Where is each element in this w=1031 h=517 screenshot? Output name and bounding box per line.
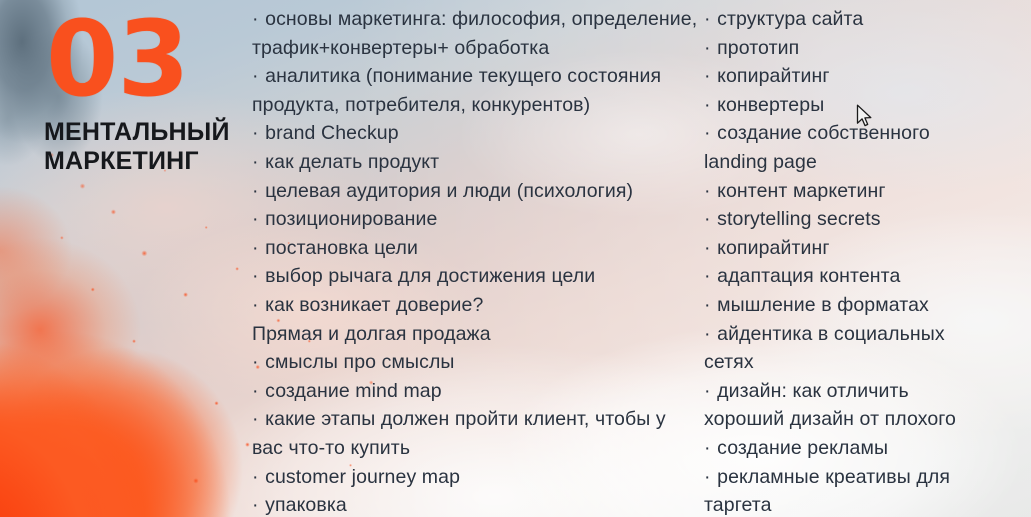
topic-line: · айдентика в социальных (704, 320, 1031, 349)
topic-line-text: как делать продукт (265, 151, 439, 173)
bullet-marker: · (704, 237, 717, 259)
topic-line: · как возникает доверие? (252, 291, 704, 320)
slide-canvas: 03 МЕНТАЛЬНЫЙ МАРКЕТИНГ · основы маркети… (0, 0, 1031, 517)
bullet-marker: · (252, 466, 265, 488)
topic-line-text: создание mind map (265, 380, 442, 402)
topic-line: Прямая и долгая продажа (252, 320, 704, 349)
topic-line: · постановка цели (252, 234, 704, 263)
topic-line: · конвертеры (704, 91, 1031, 120)
bullet-marker: · (252, 494, 265, 516)
topic-line: сетях (704, 348, 1031, 377)
topic-line: · адаптация контента (704, 262, 1031, 291)
topic-line: · рекламные креативы для (704, 463, 1031, 492)
topic-line-text: Прямая и долгая продажа (252, 323, 491, 345)
bullet-marker: · (704, 437, 717, 459)
bullet-marker: · (252, 122, 265, 144)
topic-line-text: упаковка (265, 494, 347, 516)
bullet-marker: · (704, 8, 717, 30)
topic-line: · brand Checkup (252, 119, 704, 148)
topic-line-text: дизайн: как отличить (717, 380, 909, 402)
bullet-marker: · (704, 466, 717, 488)
topic-line-text: смыслы про смыслы (265, 351, 454, 373)
topic-line-text: основы маркетинга: философия, определени… (265, 8, 697, 30)
bullet-marker: · (252, 65, 265, 87)
bullet-marker: · (704, 208, 717, 230)
bullet-marker: · (704, 122, 717, 144)
bullet-marker: · (704, 94, 717, 116)
bullet-marker: · (252, 380, 265, 402)
topic-column-right: · структура сайта· прототип· копирайтинг… (704, 0, 1031, 517)
bullet-marker: · (704, 65, 717, 87)
topic-line-text: таргета (704, 494, 772, 516)
topic-line: · позиционирование (252, 205, 704, 234)
topic-line: · customer journey map (252, 463, 704, 492)
bullet-marker: · (704, 37, 717, 59)
topic-line-text: создание рекламы (717, 437, 888, 459)
topic-line-text: какие этапы должен пройти клиент, чтобы … (265, 408, 666, 430)
topic-line-text: хороший дизайн от плохого (704, 408, 956, 430)
topic-line-text: постановка цели (265, 237, 418, 259)
bullet-marker: · (252, 265, 265, 287)
topic-line-text: позиционирование (265, 208, 437, 230)
topic-line: · создание собственного (704, 119, 1031, 148)
topic-line-text: вас что-то купить (252, 437, 410, 459)
topic-line-text: выбор рычага для достижения цели (265, 265, 595, 287)
topic-line-text: айдентика в социальных (717, 323, 945, 345)
topic-line-text: landing page (704, 151, 817, 173)
topic-line-text: копирайтинг (717, 65, 829, 87)
bullet-marker: · (704, 323, 717, 345)
topic-line-text: сетях (704, 351, 754, 373)
bullet-marker: · (252, 208, 265, 230)
topic-line-text: прототип (717, 37, 799, 59)
bullet-marker: · (252, 237, 265, 259)
topic-column-left: · основы маркетинга: философия, определе… (252, 0, 704, 517)
bullet-marker: · (252, 151, 265, 173)
topic-line: трафик+конвертеры+ обработка (252, 34, 704, 63)
bullet-marker: · (704, 180, 717, 202)
topic-line: · дизайн: как отличить (704, 377, 1031, 406)
topic-line-text: адаптация контента (717, 265, 900, 287)
bullet-marker: · (252, 294, 265, 316)
topic-line-text: создание собственного (717, 122, 930, 144)
topic-line-text: целевая аудитория и люди (психология) (265, 180, 633, 202)
topic-line: · основы маркетинга: философия, определе… (252, 5, 704, 34)
topic-line: · какие этапы должен пройти клиент, чтоб… (252, 405, 704, 434)
title-block: 03 МЕНТАЛЬНЫЙ МАРКЕТИНГ (44, 12, 264, 177)
topic-line-text: рекламные креативы для (717, 466, 950, 488)
slide-number: 03 (46, 12, 264, 108)
topic-line: landing page (704, 148, 1031, 177)
topic-line: · создание mind map (252, 377, 704, 406)
topic-line: · структура сайта (704, 5, 1031, 34)
topic-line: · копирайтинг (704, 62, 1031, 91)
topic-line: · прототип (704, 34, 1031, 63)
topic-line-text: аналитика (понимание текущего состояния (265, 65, 661, 87)
topic-line: продукта, потребителя, конкурентов) (252, 91, 704, 120)
slide-content: 03 МЕНТАЛЬНЫЙ МАРКЕТИНГ · основы маркети… (0, 0, 1031, 517)
topic-line: · целевая аудитория и люди (психология) (252, 177, 704, 206)
bullet-marker: · (704, 380, 717, 402)
topic-line-text: brand Checkup (265, 122, 399, 144)
topic-line: · мышление в форматах (704, 291, 1031, 320)
page-title: МЕНТАЛЬНЫЙ МАРКЕТИНГ (44, 118, 264, 177)
topic-line: · копирайтинг (704, 234, 1031, 263)
topic-line: таргета (704, 491, 1031, 517)
topic-line: · выбор рычага для достижения цели (252, 262, 704, 291)
topic-line: · смыслы про смыслы (252, 348, 704, 377)
topic-line: · storytelling secrets (704, 205, 1031, 234)
topic-line-text: трафик+конвертеры+ обработка (252, 37, 549, 59)
topic-line-text: storytelling secrets (717, 208, 880, 230)
topic-line: · упаковка (252, 491, 704, 517)
topic-line-text: как возникает доверие? (265, 294, 483, 316)
topic-line: · создание рекламы (704, 434, 1031, 463)
bullet-marker: · (252, 8, 265, 30)
topic-line-text: контент маркетинг (717, 180, 886, 202)
topic-columns: · основы маркетинга: философия, определе… (252, 0, 1031, 517)
bullet-marker: · (252, 351, 265, 373)
topic-line-text: мышление в форматах (717, 294, 929, 316)
bullet-marker: · (704, 294, 717, 316)
topic-line-text: структура сайта (717, 8, 863, 30)
topic-line-text: продукта, потребителя, конкурентов) (252, 94, 590, 116)
topic-line-text: конвертеры (717, 94, 824, 116)
bullet-marker: · (252, 180, 265, 202)
bullet-marker: · (252, 408, 265, 430)
topic-line: · аналитика (понимание текущего состояни… (252, 62, 704, 91)
topic-line: хороший дизайн от плохого (704, 405, 1031, 434)
topic-line: · как делать продукт (252, 148, 704, 177)
topic-line: вас что-то купить (252, 434, 704, 463)
bullet-marker: · (704, 265, 717, 287)
topic-line: · контент маркетинг (704, 177, 1031, 206)
topic-line-text: customer journey map (265, 466, 460, 488)
topic-line-text: копирайтинг (717, 237, 829, 259)
